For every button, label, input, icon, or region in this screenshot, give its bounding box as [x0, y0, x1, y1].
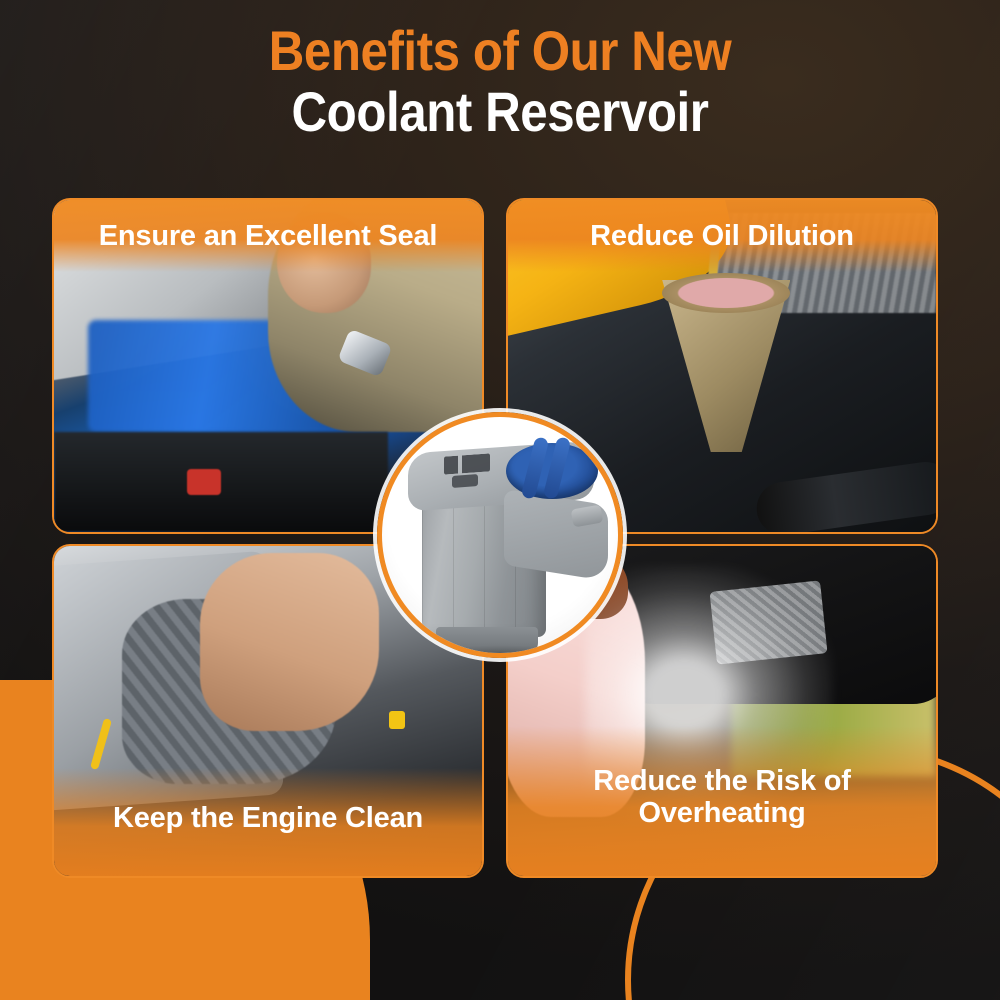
photo-layer-hose: [753, 459, 938, 534]
title-line-1: Benefits of Our New: [60, 24, 940, 79]
reservoir-warning-symbol-icon: [444, 453, 490, 474]
coolant-reservoir-product-image: [400, 431, 610, 647]
page-title: Benefits of Our New Coolant Reservoir: [0, 24, 1000, 140]
infographic-canvas: Benefits of Our New Coolant Reservoir En…: [0, 0, 1000, 1000]
title-line-2: Coolant Reservoir: [60, 85, 940, 140]
photo-layer-yellow-clip: [389, 711, 405, 729]
photo-layer-engine: [54, 432, 388, 532]
photo-layer-steam: [585, 566, 833, 823]
photo-layer-funnel-rim: [662, 273, 790, 313]
product-medallion[interactable]: [377, 412, 623, 658]
reservoir-marking-icon: [452, 474, 478, 488]
photo-layer-face: [277, 213, 371, 313]
photo-layer-red-cap: [187, 469, 221, 495]
reservoir-side-shelf: [504, 489, 608, 581]
photo-layer-hand: [200, 553, 380, 731]
